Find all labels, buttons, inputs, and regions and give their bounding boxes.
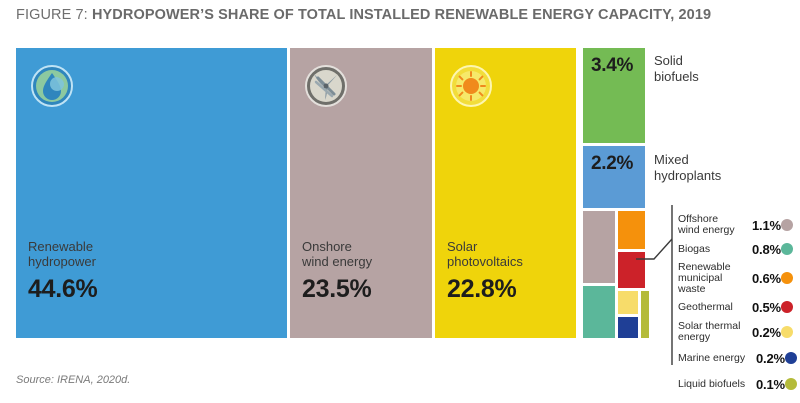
treemap-tile-renewable-municipal-waste[interactable]: [618, 211, 645, 249]
legend-item-value: 0.6%: [752, 271, 781, 286]
legend-item-label: Offshore wind energy: [678, 214, 752, 236]
treemap-tile-renewable-hydropower[interactable]: Renewable hydropower 44.6%: [16, 48, 287, 338]
legend-item-label: Biogas: [678, 244, 752, 255]
legend-item[interactable]: Offshore wind energy 1.1%: [678, 213, 798, 237]
legend-color-swatch-biogas: [781, 243, 793, 255]
legend-item-label: Renewable municipal waste: [678, 262, 752, 295]
legend-item-value: 0.5%: [752, 300, 781, 315]
treemap-tile-label-solid-biofuels: Solid biofuels: [654, 53, 699, 85]
legend-item[interactable]: Geothermal 0.5%: [678, 295, 798, 319]
legend-color-swatch-renewable-municipal-waste: [781, 272, 793, 284]
legend-item-label: Liquid biofuels: [678, 379, 756, 390]
wind-turbine-icon: [304, 64, 348, 108]
legend-item[interactable]: Solar thermal energy 0.2%: [678, 319, 798, 345]
legend-item-value: 0.1%: [756, 377, 785, 392]
legend-item-value: 0.2%: [756, 351, 785, 366]
treemap-tile-liquid-biofuels[interactable]: [641, 291, 649, 338]
legend-color-swatch-solar-thermal-energy: [781, 326, 793, 338]
treemap-tile-value: 44.6%: [28, 275, 97, 304]
treemap-tile-value: 2.2%: [591, 153, 633, 175]
treemap-tile-solar-thermal-energy[interactable]: [618, 291, 638, 314]
treemap-tile-mixed-hydroplants[interactable]: 2.2%: [583, 146, 645, 208]
treemap-tile-solar-photovoltaics[interactable]: Solar photovoltaics 22.8%: [435, 48, 576, 338]
treemap-chart: Renewable hydropower 44.6% Onshore wind …: [16, 48, 648, 338]
treemap-tile-solid-biofuels[interactable]: 3.4%: [583, 48, 645, 143]
legend-item-label: Geothermal: [678, 302, 752, 313]
treemap-tile-value: 23.5%: [302, 275, 371, 304]
treemap-tile-label: Onshore wind energy: [302, 239, 372, 269]
treemap-tile-value: 3.4%: [591, 55, 633, 77]
treemap-tile-biogas[interactable]: [583, 286, 615, 338]
treemap-tile-marine-energy[interactable]: [618, 317, 638, 338]
title-prefix: FIGURE 7:: [16, 7, 88, 23]
treemap-tile-label-mixed-hydroplants: Mixed hydroplants: [654, 152, 721, 184]
treemap-tile-label: Renewable hydropower: [28, 239, 96, 269]
treemap-tile-onshore-wind[interactable]: Onshore wind energy 23.5%: [290, 48, 432, 338]
legend-item-value: 1.1%: [752, 218, 781, 233]
legend: Offshore wind energy 1.1% Biogas 0.8% Re…: [678, 213, 798, 397]
legend-color-swatch-geothermal: [781, 301, 793, 313]
water-droplet-icon: [30, 64, 74, 108]
title-main: HYDROPOWER’S SHARE OF TOTAL INSTALLED RE…: [92, 7, 711, 23]
legend-item-value: 0.8%: [752, 242, 781, 257]
legend-color-swatch-offshore-wind: [781, 219, 793, 231]
legend-item-label: Solar thermal energy: [678, 321, 752, 343]
legend-item[interactable]: Biogas 0.8%: [678, 237, 798, 261]
legend-color-swatch-marine-energy: [785, 352, 797, 364]
legend-item-label: Marine energy: [678, 353, 756, 364]
source-note: Source: IRENA, 2020d.: [16, 374, 130, 386]
treemap-tile-label: Solar photovoltaics: [447, 239, 523, 269]
treemap-tile-geothermal[interactable]: [618, 252, 645, 288]
legend-item[interactable]: Renewable municipal waste 0.6%: [678, 261, 798, 295]
treemap-tile-value: 22.8%: [447, 275, 516, 304]
legend-color-swatch-liquid-biofuels: [785, 378, 797, 390]
legend-item[interactable]: Marine energy 0.2%: [678, 345, 798, 371]
legend-item[interactable]: Liquid biofuels 0.1%: [678, 371, 798, 397]
treemap-tile-offshore-wind[interactable]: [583, 211, 615, 283]
page-title: FIGURE 7: HYDROPOWER’S SHARE OF TOTAL IN…: [16, 7, 711, 23]
sun-icon: [449, 64, 493, 108]
legend-item-value: 0.2%: [752, 325, 781, 340]
